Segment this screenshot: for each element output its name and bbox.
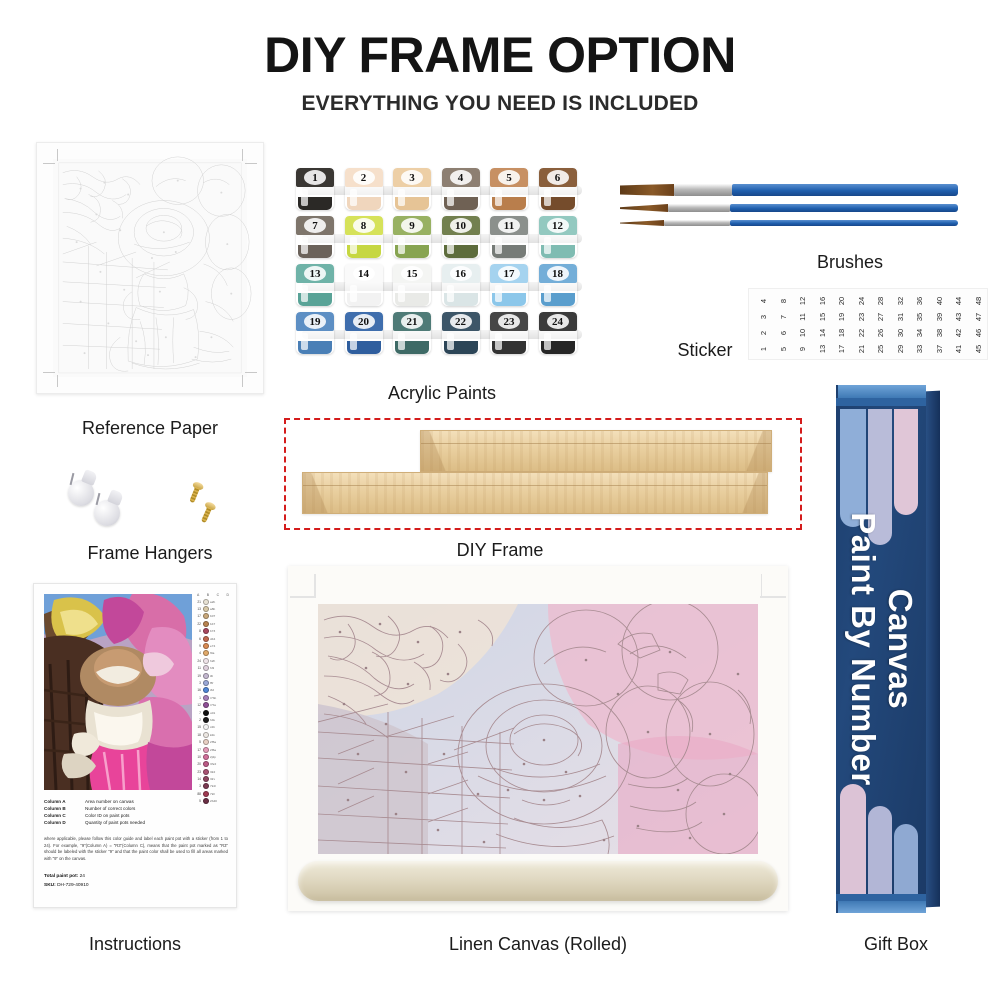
- instructions-color-legend: ABCD 21a2b13a8b17b0722b478b736d449e744f0…: [196, 593, 230, 805]
- legend-color-swatch: [203, 658, 209, 664]
- legend-color-code: 3hrd: [210, 762, 216, 766]
- caption-brushes: Brushes: [760, 252, 940, 273]
- legend-number: 12: [196, 703, 201, 707]
- paint-pot-3: 3: [393, 168, 431, 210]
- canvas-tab-right: [761, 574, 763, 596]
- legend-number: 88: [196, 792, 201, 796]
- sticker-column: 1234: [753, 293, 773, 357]
- sticker-sheet-item: 1234567891011121314151617181920212223242…: [748, 288, 988, 360]
- legend-row: 21a2b: [196, 598, 230, 605]
- sticker-column: 45464748: [968, 293, 988, 357]
- paint-pot-highlight: [447, 333, 454, 350]
- paint-pot-highlight: [495, 189, 502, 206]
- paint-pot-highlight: [350, 333, 357, 350]
- paint-pot-15: 15: [393, 264, 431, 306]
- sticker-number: 32: [891, 291, 907, 311]
- instructions-column-row: Column BNumber of correct colors: [44, 805, 226, 812]
- legend-row: 12r7bs: [196, 701, 230, 708]
- legend-number: 1: [196, 696, 201, 700]
- brush-ferrule: [674, 184, 732, 196]
- sticker-number: 24: [852, 291, 868, 311]
- legend-row: 19l4l: [196, 672, 230, 679]
- legend-header-a: A: [197, 593, 199, 597]
- paint-pot-highlight: [350, 285, 357, 302]
- crop-mark-tl-v: [57, 149, 58, 161]
- paint-pot-16: 16: [442, 264, 480, 306]
- paint-pot-highlight: [495, 333, 502, 350]
- legend-color-code: 2f5a: [210, 740, 216, 744]
- legend-row: 9e74: [196, 642, 230, 649]
- legend-color-code: h3l: [210, 666, 214, 670]
- legend-color-swatch: [203, 724, 209, 730]
- paint-pot-highlight: [350, 189, 357, 206]
- legend-color-code: f0a: [210, 651, 214, 655]
- paint-pot-21: 21: [393, 312, 431, 354]
- legend-color-code: l5f: [210, 681, 213, 685]
- legend-color-swatch: [203, 761, 209, 767]
- instructions-column-desc: Color ID on paint pots: [85, 812, 129, 819]
- sticker-column: 9101112: [792, 293, 812, 357]
- paint-pot-row: 192021222324: [296, 312, 588, 358]
- legend-row: 6d44: [196, 635, 230, 642]
- gift-box-title-line2: Paint By Number: [844, 512, 881, 785]
- paint-pot-highlight: [495, 237, 502, 254]
- hanger-screw: [200, 501, 215, 523]
- screw-shaft: [189, 486, 200, 503]
- legend-number: 15: [196, 725, 201, 729]
- legend-row: 11h3l: [196, 665, 230, 672]
- legend-row: 16i32: [196, 687, 230, 694]
- brush-liner-fine: [620, 220, 958, 226]
- legend-color-swatch: [203, 665, 209, 671]
- paint-pot-number: 7: [296, 217, 334, 234]
- paint-pot-number: 18: [539, 265, 577, 282]
- sticker-number: 44: [950, 291, 966, 311]
- sticker-column: 25262728: [870, 293, 890, 357]
- paint-pot-number: 20: [345, 313, 383, 330]
- paint-pot-highlight: [301, 237, 308, 254]
- legend-number: 24: [196, 659, 201, 663]
- instructions-column-row: Column DQuantity of paint pots needed: [44, 819, 226, 826]
- legend-number: 23: [196, 770, 201, 774]
- sticker-column: 13141516: [812, 293, 832, 357]
- legend-color-swatch: [203, 702, 209, 708]
- paint-pot-highlight: [495, 285, 502, 302]
- legend-number: 2: [196, 718, 201, 722]
- legend-color-code: 3lrd: [210, 770, 215, 774]
- legend-color-swatch: [203, 673, 209, 679]
- instructions-column-desc: Number of correct colors: [85, 805, 135, 812]
- paint-pot-number: 15: [393, 265, 431, 282]
- legend-color-swatch: [203, 739, 209, 745]
- legend-color-code: 7kll: [210, 792, 215, 796]
- legend-number: 7: [196, 711, 201, 715]
- paint-pot-6: 6: [539, 168, 577, 210]
- legend-row: 203hrd: [196, 761, 230, 768]
- paint-pot-number: 1: [296, 169, 334, 186]
- legend-number: 8: [196, 629, 201, 633]
- paint-pot-number: 9: [393, 217, 431, 234]
- brush-bristle: [620, 204, 668, 212]
- legend-number: 10: [196, 755, 201, 759]
- legend-color-swatch: [203, 732, 209, 738]
- brush-handle: [730, 220, 958, 226]
- sticker-number: 12: [794, 291, 810, 311]
- gift-box-side-panel: [925, 391, 940, 908]
- sticker-column: 41424344: [948, 293, 968, 357]
- legend-color-code: e74: [210, 644, 215, 648]
- paint-pot-7: 7: [296, 216, 334, 258]
- legend-row: 13a8b: [196, 605, 230, 612]
- legend-header-c: C: [217, 593, 219, 597]
- instructions-column-label: Column D: [44, 819, 80, 826]
- legend-color-code: u01: [210, 711, 215, 715]
- caption-gift-box: Gift Box: [836, 934, 956, 955]
- legend-color-code: r7bb: [210, 696, 216, 700]
- legend-color-swatch: [203, 717, 209, 723]
- paint-pot-number: 11: [490, 217, 528, 234]
- sticker-number: 48: [969, 291, 985, 311]
- wood-edge: [303, 485, 767, 486]
- legend-row: 102j4p: [196, 753, 230, 760]
- canvas-tab-right-h: [760, 596, 786, 598]
- sticker-column: 29303132: [890, 293, 910, 357]
- canvas-tab-left: [314, 574, 316, 596]
- caption-instructions: Instructions: [33, 934, 237, 955]
- legend-color-swatch: [203, 606, 209, 612]
- legend-number: 19: [196, 674, 201, 678]
- sticker-number-grid: 1234567891011121314151617181920212223242…: [753, 293, 987, 357]
- paint-pot-24: 24: [539, 312, 577, 354]
- screw-shaft: [201, 506, 212, 523]
- legend-color-swatch: [203, 747, 209, 753]
- paint-pot-number: 21: [393, 313, 431, 330]
- legend-color-swatch: [203, 628, 209, 634]
- paint-pot-20: 20: [345, 312, 383, 354]
- legend-number: 4: [196, 651, 201, 655]
- brush-ferrule: [664, 220, 730, 226]
- caption-acrylic-paints: Acrylic Paints: [296, 383, 588, 404]
- legend-color-swatch: [203, 769, 209, 775]
- instructions-color-preview: [44, 594, 192, 790]
- legend-color-swatch: [203, 680, 209, 686]
- legend-number: 9: [196, 644, 201, 648]
- paint-pot-18: 18: [539, 264, 577, 306]
- legend-number: 16: [196, 688, 201, 692]
- wood-miter-right: [733, 473, 767, 513]
- brush-flat: [620, 184, 958, 196]
- paint-pot-highlight: [398, 285, 405, 302]
- legend-row: 233lrd: [196, 768, 230, 775]
- legend-color-code: 3lrx: [210, 777, 215, 781]
- brushes-item: [620, 176, 960, 246]
- paint-pot-number: 23: [490, 313, 528, 330]
- paint-pot-8: 8: [345, 216, 383, 258]
- crop-mark-tl-h: [43, 163, 55, 164]
- paint-pot-highlight: [301, 189, 308, 206]
- instructions-column-row: Column AArea number on canvas: [44, 798, 226, 805]
- reference-paper-item: [36, 142, 264, 394]
- legend-number: 14: [196, 777, 201, 781]
- reference-paper-line-art: [37, 143, 263, 393]
- paint-pot-number: 2: [345, 169, 383, 186]
- paint-pot-highlight: [447, 285, 454, 302]
- legend-color-swatch: [203, 643, 209, 649]
- sticker-number: 20: [833, 291, 849, 311]
- paint-pot-number: 10: [442, 217, 480, 234]
- paint-pot-5: 5: [490, 168, 528, 210]
- frame-hangers-item: [62, 466, 242, 536]
- paint-pot-number: 17: [490, 265, 528, 282]
- canvas-numbered-artwork: [318, 604, 758, 854]
- crop-mark-br-v: [242, 375, 243, 387]
- sticker-column: 21222324: [851, 293, 871, 357]
- paint-pot-highlight: [447, 189, 454, 206]
- brush-handle: [732, 184, 958, 196]
- instructions-column-label: Column B: [44, 805, 80, 812]
- legend-color-code: h2h: [210, 659, 215, 663]
- paint-pot-9: 9: [393, 216, 431, 258]
- sku-line: SKU: DH-729-40910: [44, 881, 89, 890]
- instructions-column-desc: Quantity of paint pots needed: [85, 819, 145, 826]
- paint-pot-highlight: [544, 285, 551, 302]
- paint-pot-row: 131415161718: [296, 264, 588, 310]
- legend-color-code: b73: [210, 629, 215, 633]
- legend-color-swatch: [203, 695, 209, 701]
- paint-pot-highlight: [544, 189, 551, 206]
- legend-color-swatch: [203, 599, 209, 605]
- legend-color-swatch: [203, 613, 209, 619]
- paint-pot-14: 14: [345, 264, 383, 306]
- legend-color-code: 7k4l: [210, 784, 216, 788]
- caption-sticker: Sticker: [660, 340, 750, 361]
- brush-bristle: [620, 220, 664, 226]
- paint-pot-number: 14: [345, 265, 383, 282]
- legend-row: 17b07: [196, 613, 230, 620]
- legend-row: 887kll: [196, 790, 230, 797]
- legend-color-code: b47: [210, 622, 215, 626]
- total-paint-pot-line: Total paint pot: 24: [44, 872, 89, 881]
- sticker-number: 28: [872, 291, 888, 311]
- wood-miter-left: [303, 473, 337, 513]
- instructions-footer: Total paint pot: 24 SKU: DH-729-40910: [44, 872, 89, 890]
- wood-miter-left: [421, 431, 455, 471]
- legend-number: 5: [196, 740, 201, 744]
- legend-number: 20: [196, 762, 201, 766]
- legend-color-code: k2k: [210, 733, 215, 737]
- total-paint-pot-value: 24: [80, 874, 85, 879]
- instructions-sheet-item: ABCD 21a2b13a8b17b0722b478b736d449e744f0…: [33, 583, 237, 908]
- paint-pot-number: 13: [296, 265, 334, 282]
- crop-mark-bl-h: [43, 372, 55, 373]
- gift-box-item: Canvas Paint By Number: [836, 385, 940, 913]
- legend-row: 1r7bb: [196, 694, 230, 701]
- legend-row: 4f0a: [196, 650, 230, 657]
- page-title: DIY FRAME OPTION: [0, 26, 1000, 84]
- wood-miter-right: [737, 431, 771, 471]
- brush-bristle: [620, 184, 674, 196]
- canvas-rolled-bottom: [298, 861, 778, 901]
- legend-color-code: a2b: [210, 600, 215, 604]
- paint-pot-highlight: [301, 285, 308, 302]
- paint-pot-12: 12: [539, 216, 577, 258]
- diy-frame-item: [284, 418, 802, 530]
- legend-color-code: 2f6a: [210, 748, 216, 752]
- legend-color-swatch: [203, 621, 209, 627]
- sticker-column: 17181920: [831, 293, 851, 357]
- sticker-number: 36: [911, 291, 927, 311]
- brush-handle: [730, 204, 958, 212]
- legend-color-code: r7bs: [210, 703, 216, 707]
- paint-pot-number: 19: [296, 313, 334, 330]
- legend-number: 17: [196, 748, 201, 752]
- legend-color-swatch: [203, 754, 209, 760]
- product-infographic: DIY FRAME OPTION EVERYTHING YOU NEED IS …: [0, 0, 1000, 1000]
- hanger-hook: [68, 480, 94, 506]
- legend-number: 13: [196, 607, 201, 611]
- sku-value: DH-729-40910: [57, 883, 88, 888]
- paint-pot-highlight: [447, 237, 454, 254]
- sticker-number: 16: [813, 291, 829, 311]
- instructions-column-label: Column A: [44, 798, 80, 805]
- frame-wood-strip: [302, 472, 768, 514]
- instructions-column-row: Column CColor ID on paint pots: [44, 812, 226, 819]
- paint-pot-row: 123456: [296, 168, 588, 214]
- sticker-column: 37383940: [929, 293, 949, 357]
- legend-number: 3: [196, 784, 201, 788]
- legend-color-code: c2b: [210, 725, 215, 729]
- brush-ferrule: [668, 204, 730, 212]
- hanger-screw: [188, 481, 202, 503]
- sticker-column: 5678: [773, 293, 793, 357]
- legend-number: 18: [196, 733, 201, 737]
- paint-pot-23: 23: [490, 312, 528, 354]
- sticker-column: 33343536: [909, 293, 929, 357]
- sticker-number: 8: [774, 291, 790, 311]
- legend-number: 11: [196, 666, 201, 670]
- paint-pot-number: 12: [539, 217, 577, 234]
- legend-color-code: 2j4p: [210, 755, 216, 759]
- crop-mark-tr-h: [245, 163, 257, 164]
- paint-pot-highlight: [301, 333, 308, 350]
- legend-header-b: B: [207, 593, 209, 597]
- legend-color-swatch: [203, 687, 209, 693]
- paint-pot-number: 8: [345, 217, 383, 234]
- instructions-artwork: [44, 594, 192, 790]
- paint-pot-highlight: [544, 237, 551, 254]
- paint-pot-13: 13: [296, 264, 334, 306]
- instructions-column-desc: Area number on canvas: [85, 798, 134, 805]
- instructions-column-label: Column C: [44, 812, 80, 819]
- legend-number: 17: [196, 614, 201, 618]
- legend-rows: 21a2b13a8b17b0722b478b736d449e744f0a24h2…: [196, 598, 230, 805]
- frame-wood-strip: [420, 430, 772, 472]
- legend-row: 143lrx: [196, 775, 230, 782]
- paint-pot-number: 24: [539, 313, 577, 330]
- legend-row: 7u01: [196, 709, 230, 716]
- crop-mark-tr-v: [242, 149, 243, 161]
- paint-pot-highlight: [350, 237, 357, 254]
- legend-row: 22b47: [196, 620, 230, 627]
- paint-pot-highlight: [544, 333, 551, 350]
- legend-color-code: a8b: [210, 607, 215, 611]
- paint-pot-number: 4: [442, 169, 480, 186]
- paint-pot-4: 4: [442, 168, 480, 210]
- linen-canvas-item: [288, 566, 788, 911]
- paint-pot-number: 5: [490, 169, 528, 186]
- brush-round-medium: [620, 204, 958, 212]
- caption-diy-frame: DIY Frame: [400, 540, 600, 561]
- legend-number: 21: [196, 600, 201, 604]
- crop-mark-br-h: [245, 372, 257, 373]
- crop-mark-bl-v: [57, 375, 58, 387]
- paint-pot-17: 17: [490, 264, 528, 306]
- legend-color-code: d44: [210, 637, 215, 641]
- legend-color-swatch: [203, 710, 209, 716]
- canvas-tab-left-h: [290, 596, 316, 598]
- legend-number: 6: [196, 637, 201, 641]
- wood-edge: [421, 443, 771, 444]
- paint-pot-highlight: [398, 237, 405, 254]
- paint-pot-11: 11: [490, 216, 528, 258]
- legend-color-code: l4l: [210, 674, 213, 678]
- legend-row: 37k4l: [196, 783, 230, 790]
- gift-box-title: Canvas Paint By Number: [836, 385, 926, 913]
- legend-color-code: h4k: [210, 718, 215, 722]
- paint-pot-1: 1: [296, 168, 334, 210]
- paint-pot-row: 789101112: [296, 216, 588, 262]
- legend-row: 18k2k: [196, 731, 230, 738]
- caption-linen-canvas: Linen Canvas (Rolled): [288, 934, 788, 955]
- hanger-d-ring: [134, 500, 156, 530]
- gift-box-front-panel: Canvas Paint By Number: [836, 385, 926, 913]
- sticker-number: 40: [930, 291, 946, 311]
- legend-row: 3l5f: [196, 679, 230, 686]
- paint-pot-19: 19: [296, 312, 334, 354]
- legend-number: 22: [196, 622, 201, 626]
- acrylic-paints-item: 123456789101112131415161718192021222324: [296, 168, 588, 360]
- instructions-note: where applicable, please follow this col…: [44, 836, 228, 863]
- paint-pot-number: 3: [393, 169, 431, 186]
- legend-row: 8b73: [196, 628, 230, 635]
- legend-row: 52f5a: [196, 738, 230, 745]
- sku-label: SKU:: [44, 883, 56, 888]
- page-subtitle: EVERYTHING YOU NEED IS INCLUDED: [0, 92, 1000, 116]
- legend-row: 2h4k: [196, 716, 230, 723]
- legend-row: 172f6a: [196, 746, 230, 753]
- paint-pot-10: 10: [442, 216, 480, 258]
- paint-pot-highlight: [398, 333, 405, 350]
- legend-color-swatch: [203, 783, 209, 789]
- canvas-line-art: [318, 604, 758, 854]
- legend-color-code: b07: [210, 614, 215, 618]
- legend-color-swatch: [203, 636, 209, 642]
- sticker-number: 4: [755, 291, 771, 311]
- legend-number: 3: [196, 681, 201, 685]
- instructions-column-key: Column AArea number on canvasColumn BNum…: [44, 798, 226, 826]
- legend-color-swatch: [203, 650, 209, 656]
- legend-color-swatch: [203, 776, 209, 782]
- gift-box-title-line1: Canvas: [881, 512, 918, 785]
- caption-reference-paper: Reference Paper: [36, 418, 264, 439]
- paint-pot-highlight: [398, 189, 405, 206]
- hanger-hook: [94, 500, 120, 526]
- paint-pot-22: 22: [442, 312, 480, 354]
- legend-row: 15c2b: [196, 724, 230, 731]
- paint-pot-number: 16: [442, 265, 480, 282]
- legend-header-d: D: [227, 593, 229, 597]
- total-paint-pot-label: Total paint pot:: [44, 874, 78, 879]
